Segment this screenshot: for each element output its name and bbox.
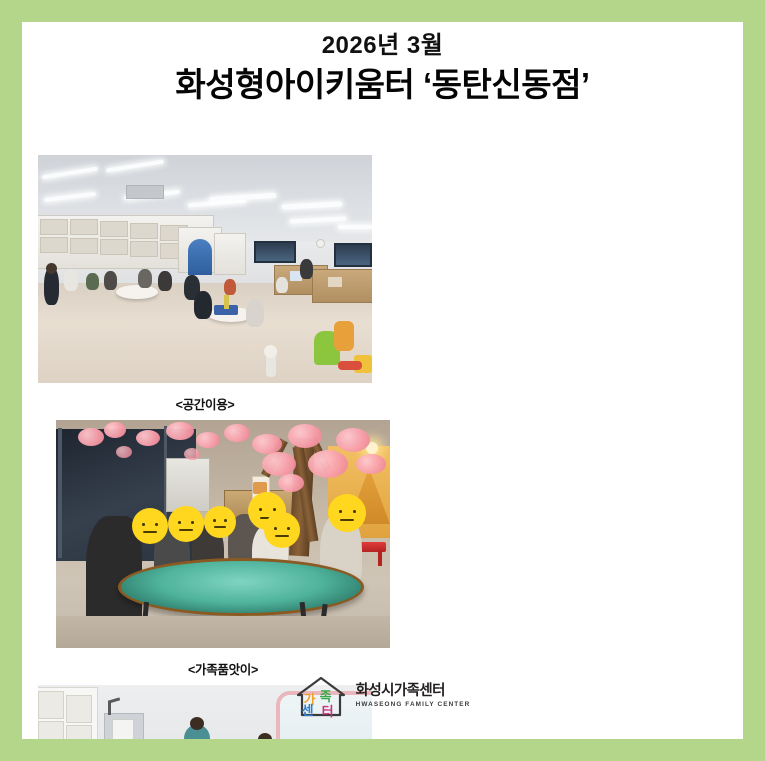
- title-block: 2026년 3월 화성형아이키움터 ‘동탄신동점’: [22, 22, 743, 105]
- emoji-face-sticker: [204, 506, 236, 538]
- logo-char-teo: 터: [322, 701, 334, 720]
- photo-cell-family-exchange: <가족품앗이>: [56, 420, 408, 678]
- poster-subtitle: 2026년 3월: [22, 32, 743, 61]
- photo-family-exchange: [56, 420, 390, 648]
- photo-caption: <가족품앗이>: [56, 648, 390, 678]
- photo-caption: <공간이용>: [38, 383, 372, 413]
- footer-name-en: HWASEONG FAMILY CENTER: [356, 702, 471, 708]
- logo-char-sen: 센: [302, 700, 314, 719]
- emoji-face-sticker: [328, 494, 366, 532]
- poster-frame: 2026년 3월 화성형아이키움터 ‘동탄신동점’: [0, 0, 765, 761]
- family-center-logo-icon: 가 족 센 터: [295, 675, 347, 717]
- emoji-face-sticker: [168, 506, 204, 542]
- emoji-face-sticker: [264, 512, 300, 548]
- footer: 가 족 센 터 화성시가족센터 HWASEONG FAMILY CENTER: [22, 675, 743, 717]
- photo-cell-playroom: <공간이용>: [38, 155, 390, 413]
- poster-inner: 2026년 3월 화성형아이키움터 ‘동탄신동점’: [22, 22, 743, 739]
- photo-grid: <공간이용>: [38, 155, 728, 739]
- poster-title: 화성형아이키움터 ‘동탄신동점’: [22, 64, 743, 105]
- emoji-face-sticker: [132, 508, 168, 544]
- footer-logo-text: 화성시가족센터 HWASEONG FAMILY CENTER: [356, 684, 471, 708]
- footer-name-ko: 화성시가족센터: [356, 684, 471, 699]
- photo-playroom: [38, 155, 372, 383]
